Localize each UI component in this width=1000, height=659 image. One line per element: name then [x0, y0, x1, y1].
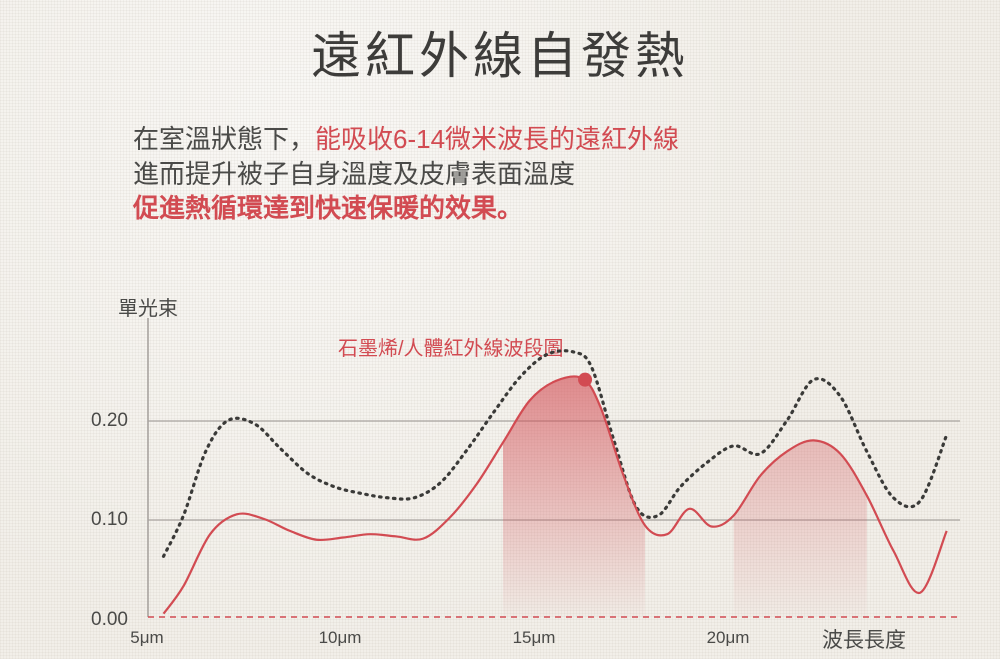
chart-series — [164, 351, 947, 617]
infographic-content: 遠紅外線自發熱 在室溫狀態下，能吸收6-14微米波長的遠紅外線 進而提升被子自身… — [0, 0, 1000, 659]
chart-plot — [0, 0, 1000, 659]
series-fill — [734, 440, 867, 617]
peak-marker — [578, 373, 592, 387]
series-fill — [503, 376, 645, 617]
